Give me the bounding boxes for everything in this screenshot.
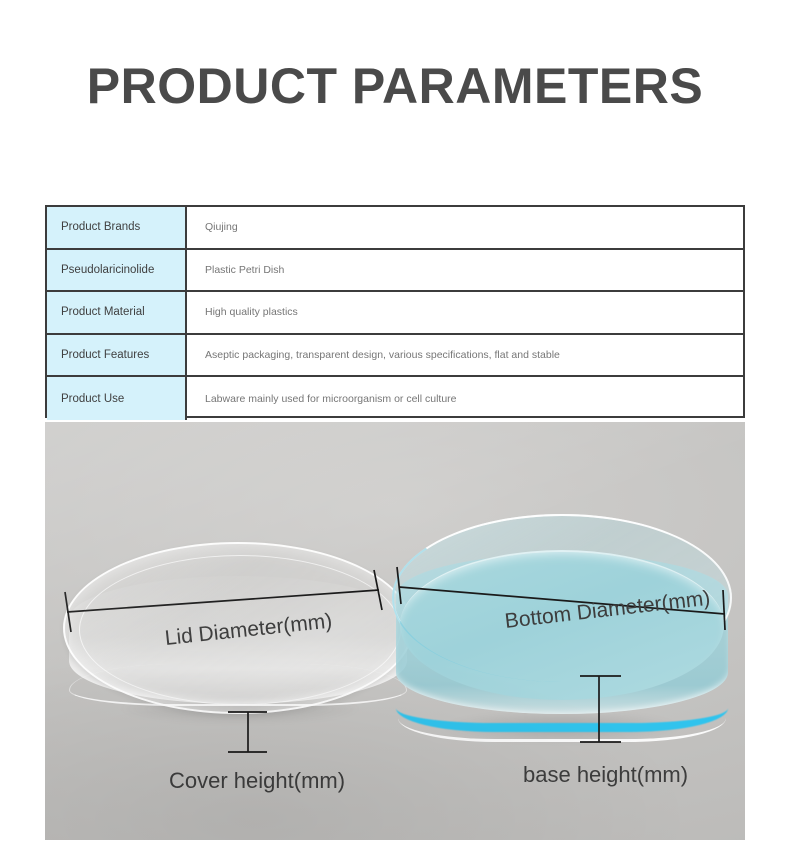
cover-height-label: Cover height(mm) xyxy=(169,768,345,794)
spec-value-product-use: Labware mainly used for microorganism or… xyxy=(187,377,743,420)
spec-value-product-features: Aseptic packaging, transparent design, v… xyxy=(187,335,743,376)
specification-table: Product Brands Qiujing Pseudolaricinolid… xyxy=(45,205,745,418)
table-row: Pseudolaricinolide Plastic Petri Dish xyxy=(47,250,743,293)
page-title: PRODUCT PARAMETERS xyxy=(0,61,790,111)
base-height-label: base height(mm) xyxy=(523,762,688,788)
spec-key-product-features: Product Features xyxy=(47,335,187,376)
spec-value-product-material: High quality plastics xyxy=(187,292,743,333)
product-parameters-page: PRODUCT PARAMETERS Product Brands Qiujin… xyxy=(0,0,790,859)
spec-value-pseudolaricinolide: Plastic Petri Dish xyxy=(187,250,743,291)
table-row: Product Features Aseptic packaging, tran… xyxy=(47,335,743,378)
table-row: Product Use Labware mainly used for micr… xyxy=(47,377,743,420)
table-row: Product Brands Qiujing xyxy=(47,207,743,250)
product-photo: Lid Diameter(mm) Bottom Diameter(mm) Cov… xyxy=(45,422,745,840)
spec-key-pseudolaricinolide: Pseudolaricinolide xyxy=(47,250,187,291)
petri-dish-base-image xyxy=(392,514,732,749)
table-row: Product Material High quality plastics xyxy=(47,292,743,335)
spec-value-product-brands: Qiujing xyxy=(187,207,743,248)
spec-key-product-brands: Product Brands xyxy=(47,207,187,248)
spec-key-product-use: Product Use xyxy=(47,377,187,420)
spec-key-product-material: Product Material xyxy=(47,292,187,333)
